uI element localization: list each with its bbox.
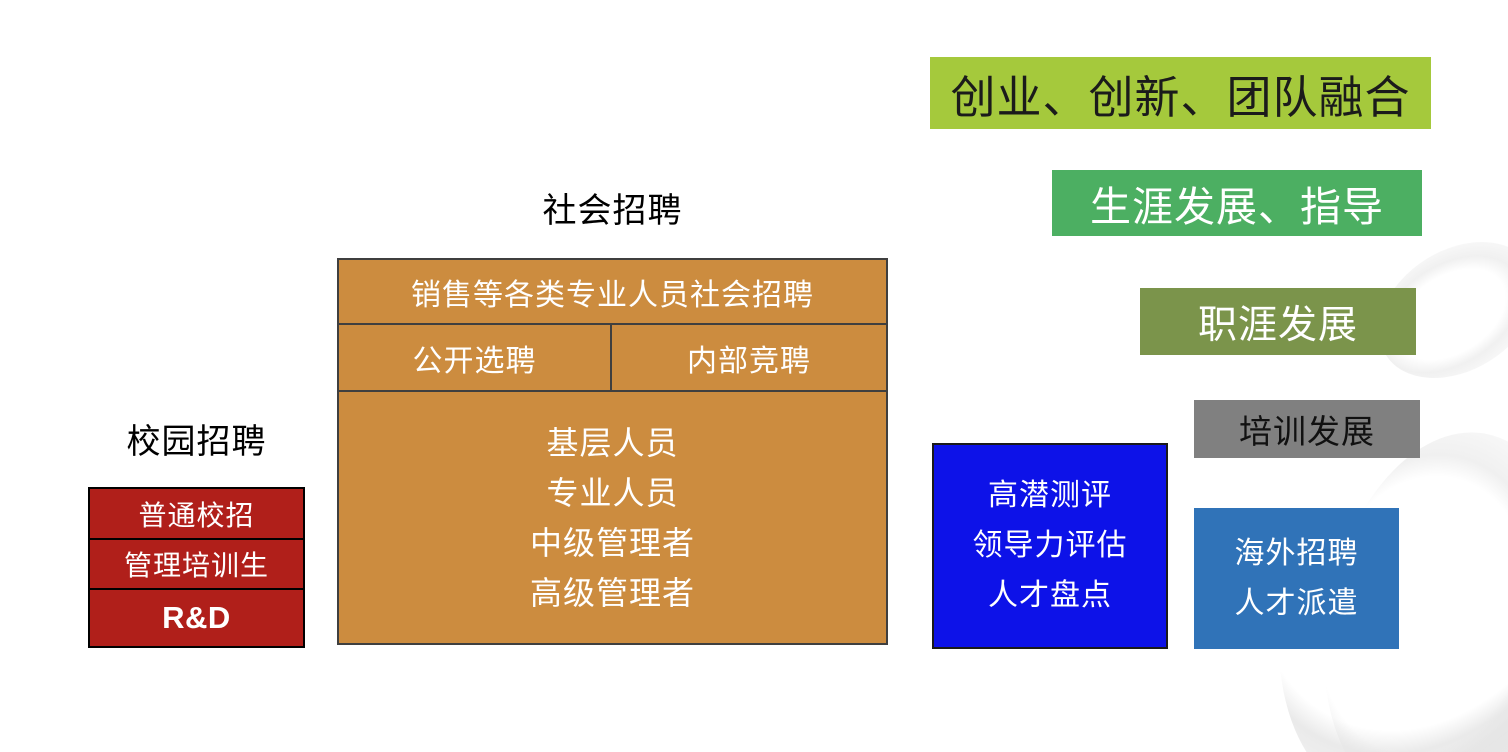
campus-item-rnd[interactable]: R&D	[88, 588, 305, 648]
social-level-professional: 专业人员	[546, 468, 678, 518]
social-channel-open-selection[interactable]: 公开选聘	[339, 325, 612, 390]
campus-recruiting-group: 普通校招 管理培训生 R&D	[88, 487, 305, 648]
table-row-levels: 基层人员 专业人员 中级管理者 高级管理者	[339, 392, 886, 643]
social-level-entry: 基层人员	[546, 418, 678, 468]
social-channel-internal-competition[interactable]: 内部竞聘	[612, 325, 886, 390]
program-bar-training-development[interactable]: 培训发展	[1194, 400, 1420, 458]
brush-stroke-1	[1278, 181, 1508, 752]
slide-canvas: 校园招聘 普通校招 管理培训生 R&D 社会招聘 销售等各类专业人员社会招聘 公…	[0, 0, 1508, 752]
overseas-line-recruiting: 海外招聘	[1235, 529, 1359, 579]
social-recruiting-table: 销售等各类专业人员社会招聘 公开选聘 内部竞聘 基层人员 专业人员 中级管理者 …	[337, 258, 888, 645]
program-bar-entrepreneurship[interactable]: 创业、创新、团队融合	[930, 57, 1431, 129]
talent-assessment-block[interactable]: 高潜测评 领导力评估 人才盘点	[932, 443, 1168, 649]
social-level-senior-manager: 高级管理者	[530, 568, 695, 618]
assessment-line-high-potential: 高潜测评	[988, 471, 1112, 521]
program-bar-professional-development[interactable]: 职涯发展	[1140, 288, 1416, 355]
table-row-header: 销售等各类专业人员社会招聘	[339, 260, 886, 325]
assessment-line-talent-review: 人才盘点	[988, 571, 1112, 621]
campus-item-general[interactable]: 普通校招	[88, 487, 305, 540]
social-header-label: 销售等各类专业人员社会招聘	[339, 260, 886, 323]
program-bar-career-development-guidance[interactable]: 生涯发展、指导	[1052, 170, 1422, 236]
social-level-middle-manager: 中级管理者	[530, 518, 695, 568]
assessment-line-leadership-evaluation: 领导力评估	[973, 521, 1128, 571]
campus-item-management-trainee[interactable]: 管理培训生	[88, 538, 305, 590]
campus-recruiting-title: 校园招聘	[88, 414, 305, 463]
social-recruiting-title: 社会招聘	[337, 183, 888, 232]
overseas-line-talent-dispatch: 人才派遣	[1235, 579, 1359, 629]
table-row-channels: 公开选聘 内部竞聘	[339, 325, 886, 392]
overseas-recruiting-block[interactable]: 海外招聘 人才派遣	[1194, 508, 1399, 649]
